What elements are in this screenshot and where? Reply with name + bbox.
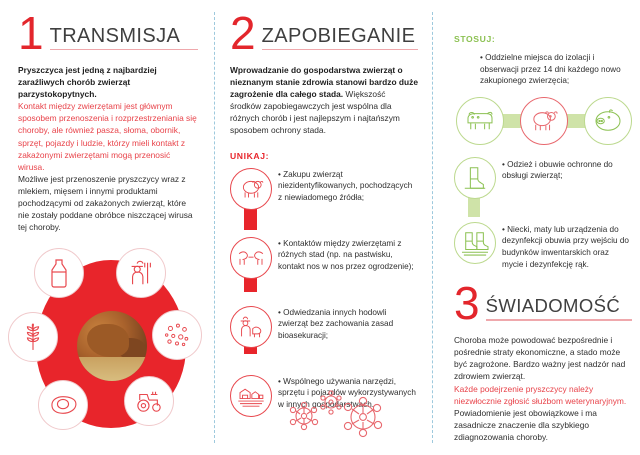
- avoid-item-1: • Zakupu zwierząt niezidentyfikowanych, …: [230, 168, 418, 215]
- section2-intro-bold: Wprowadzanie do gospodarstwa zwierząt o …: [230, 65, 418, 99]
- section3-paragraph-1: Choroba może powodować bezpośrednie i po…: [454, 334, 632, 382]
- farmer-pitchfork-icon: [116, 248, 166, 298]
- apply-item-1: • Odzież i obuwie ochronne do obsługi zw…: [454, 157, 632, 202]
- virus-particles-icon: [152, 310, 202, 360]
- section3-header: 3 ŚWIADOMOŚĆ: [454, 284, 632, 322]
- apply-item-1-text: • Odzież i obuwie ochronne do obsługi zw…: [502, 157, 632, 182]
- pig-icon: [584, 97, 632, 145]
- farmer-visiting-icon: [230, 306, 272, 348]
- apply-item-2: • Niecki, maty lub urządzenia do dezynfe…: [454, 222, 632, 270]
- milk-bottle-icon: [34, 248, 84, 298]
- section3-number: 3: [454, 284, 479, 322]
- section1-title: TRANSMISJA: [50, 25, 198, 47]
- section3-body: Choroba może powodować bezpośrednie i po…: [454, 334, 632, 443]
- section2-number: 2: [230, 14, 255, 52]
- section1-header: 1 TRANSMISJA: [18, 14, 198, 52]
- disinfection-mat-boots-icon: [454, 222, 496, 264]
- avoid-item-2-text: • Kontaktów między zwierzętami z różnych…: [278, 237, 418, 273]
- section2-intro: Wprowadzanie do gospodarstwa zwierząt o …: [230, 64, 418, 137]
- section-stosuj-swiadomosc: STOSUJ: • Oddzielne miejsca do izolacji …: [432, 0, 640, 443]
- avoid-item-1-text: • Zakupu zwierząt niezidentyfikowanych, …: [278, 168, 418, 204]
- section-transmisja: 1 TRANSMISJA Pryszczyca jest jedną z naj…: [0, 0, 214, 233]
- apply-label: STOSUJ:: [454, 34, 632, 44]
- section-zapobieganie: 2 ZAPOBIEGANIE Wprowadzanie do gospodars…: [214, 0, 432, 422]
- section1-paragraph-1: Pryszczyca jest jedną z najbardziej zara…: [18, 64, 198, 100]
- section3-paragraph-3: Powiadomienie jest obowiązkowe i ma zasa…: [454, 407, 632, 443]
- section1-paragraph-3: Możliwe jest przenoszenie pryszczycy wra…: [18, 173, 198, 233]
- avoid-item-3: • Odwiedzania innych hodowli zwierząt be…: [230, 306, 418, 353]
- apply-first-item: • Oddzielne miejsca do izolacji i obserw…: [480, 52, 632, 87]
- section3-title: ŚWIADOMOŚĆ: [486, 295, 632, 317]
- section3-block: 3 ŚWIADOMOŚĆ Choroba może powodować bezp…: [454, 284, 632, 443]
- transmission-illustration: [6, 248, 210, 452]
- farm-buildings-icon: [230, 375, 272, 417]
- section2-header: 2 ZAPOBIEGANIE: [230, 14, 418, 52]
- section3-paragraph-2: Każde podejrzenie pryszczycy należy niez…: [454, 383, 632, 407]
- avoid-item-3-text: • Odwiedzania innych hodowli zwierząt be…: [278, 306, 418, 342]
- section2-title: ZAPOBIEGANIE: [262, 25, 418, 47]
- cow-icon: [456, 97, 504, 145]
- section1-rule: [50, 49, 198, 50]
- sheep-icon: [230, 168, 272, 210]
- avoid-list: • Zakupu zwierząt niezidentyfikowanych, …: [230, 168, 418, 422]
- avoid-label: UNIKAJ:: [230, 151, 418, 161]
- animals-nose-contact-icon: [230, 237, 272, 279]
- section1-number: 1: [18, 14, 43, 52]
- tractor-icon: [124, 376, 174, 426]
- section1-paragraph-2: Kontakt między zwierzętami jest głównym …: [18, 100, 198, 173]
- infographic-page: 1 TRANSMISJA Pryszczyca jest jedną z naj…: [0, 0, 640, 455]
- wheat-grain-icon: [8, 312, 58, 362]
- avoid-item-2: • Kontaktów między zwierzętami z różnych…: [230, 237, 418, 284]
- section3-rule: [486, 319, 632, 320]
- apply-item-2-text: • Niecki, maty lub urządzenia do dezynfe…: [502, 222, 632, 270]
- sheep-icon: [520, 97, 568, 145]
- protective-boot-icon: [454, 157, 496, 199]
- apply-list: • Odzież i obuwie ochronne do obsługi zw…: [454, 157, 632, 270]
- section1-body: Pryszczyca jest jedną z najbardziej zara…: [18, 64, 198, 233]
- cow-photo: [77, 311, 147, 381]
- section2-rule: [262, 49, 418, 50]
- animal-species-row: [454, 97, 632, 145]
- meat-cut-icon: [38, 380, 88, 430]
- virus-particles-icon: [276, 390, 396, 440]
